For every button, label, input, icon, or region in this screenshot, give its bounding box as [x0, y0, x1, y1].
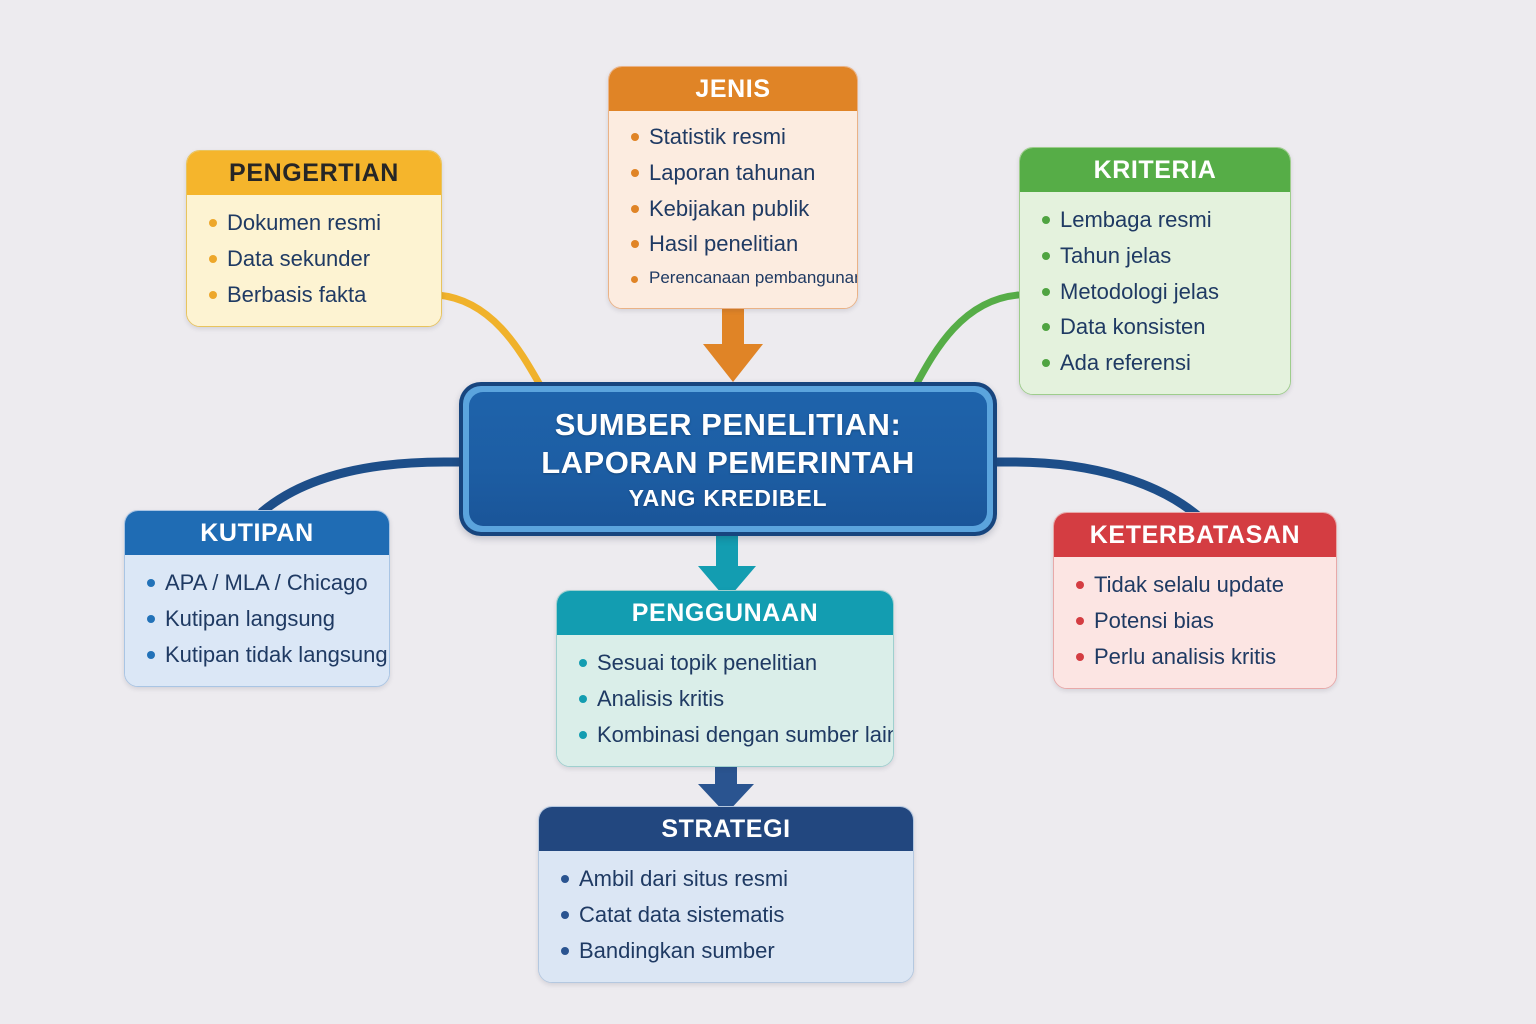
list-item: Tidak selalu update [1072, 567, 1322, 603]
list-item: Kutipan langsung [143, 601, 375, 637]
center-ring: SUMBER PENELITIAN: LAPORAN PEMERINTAH YA… [463, 386, 993, 532]
node-strategi-list: Ambil dari situs resmi Catat data sistem… [557, 861, 899, 968]
node-strategi[interactable]: STRATEGI Ambil dari situs resmi Catat da… [538, 806, 914, 983]
node-strategi-body: Ambil dari situs resmi Catat data sistem… [539, 851, 913, 982]
list-item: Dokumen resmi [205, 205, 427, 241]
node-keterbatasan-body: Tidak selalu update Potensi bias Perlu a… [1054, 557, 1336, 688]
connector-pengertian-to-center [438, 295, 540, 385]
list-item: Tahun jelas [1038, 238, 1276, 274]
list-item: Perlu analisis kritis [1072, 639, 1322, 675]
node-penggunaan-body: Sesuai topik penelitian Analisis kritis … [557, 635, 893, 766]
node-keterbatasan-title: KETERBATASAN [1054, 513, 1336, 557]
connector-kriteria-to-center [916, 295, 1018, 385]
node-kriteria[interactable]: KRITERIA Lembaga resmi Tahun jelas Metod… [1019, 147, 1291, 395]
node-penggunaan-list: Sesuai topik penelitian Analisis kritis … [575, 645, 879, 752]
node-kutipan-body: APA / MLA / Chicago Kutipan langsung Kut… [125, 555, 389, 686]
node-penggunaan-title: PENGGUNAAN [557, 591, 893, 635]
node-kriteria-body: Lembaga resmi Tahun jelas Metodologi jel… [1020, 192, 1290, 394]
list-item: Data sekunder [205, 241, 427, 277]
node-pengertian-body: Dokumen resmi Data sekunder Berbasis fak… [187, 195, 441, 326]
list-item: Metodologi jelas [1038, 274, 1276, 310]
node-pengertian-title: PENGERTIAN [187, 151, 441, 195]
list-item: APA / MLA / Chicago [143, 565, 375, 601]
list-item: Sesuai topik penelitian [575, 645, 879, 681]
list-item: Data konsisten [1038, 309, 1276, 345]
list-item: Kombinasi dengan sumber lain [575, 717, 879, 753]
list-item: Statistik resmi [627, 119, 843, 155]
node-keterbatasan-list: Tidak selalu update Potensi bias Perlu a… [1072, 567, 1322, 674]
connector-center-to-kutipan [262, 462, 459, 512]
node-jenis-body: Statistik resmi Laporan tahunan Kebijaka… [609, 111, 857, 308]
list-item: Berbasis fakta [205, 277, 427, 313]
center-title-line1: SUMBER PENELITIAN: [555, 406, 902, 444]
node-kriteria-list: Lembaga resmi Tahun jelas Metodologi jel… [1038, 202, 1276, 380]
node-pengertian-list: Dokumen resmi Data sekunder Berbasis fak… [205, 205, 427, 312]
list-item: Kebijakan publik [627, 191, 843, 227]
list-item: Hasil penelitian [627, 226, 843, 262]
connector-jenis-to-center [703, 306, 763, 382]
node-kutipan-title: KUTIPAN [125, 511, 389, 555]
node-strategi-title: STRATEGI [539, 807, 913, 851]
list-item: Ada referensi [1038, 345, 1276, 381]
list-item: Kutipan tidak langsung [143, 637, 375, 673]
connector-center-to-keterbatasan [997, 462, 1198, 516]
node-jenis-title: JENIS [609, 67, 857, 111]
node-penggunaan[interactable]: PENGGUNAAN Sesuai topik penelitian Anali… [556, 590, 894, 767]
list-item: Analisis kritis [575, 681, 879, 717]
node-kutipan[interactable]: KUTIPAN APA / MLA / Chicago Kutipan lang… [124, 510, 390, 687]
node-keterbatasan[interactable]: KETERBATASAN Tidak selalu update Potensi… [1053, 512, 1337, 689]
list-item: Laporan tahunan [627, 155, 843, 191]
mindmap-canvas: PENGERTIAN Dokumen resmi Data sekunder B… [0, 0, 1536, 1024]
center-inner: SUMBER PENELITIAN: LAPORAN PEMERINTAH YA… [469, 392, 987, 526]
center-title-line3: YANG KREDIBEL [629, 485, 828, 512]
list-item: Lembaga resmi [1038, 202, 1276, 238]
list-item: Catat data sistematis [557, 897, 899, 933]
node-jenis-list: Statistik resmi Laporan tahunan Kebijaka… [627, 119, 843, 294]
list-item: Ambil dari situs resmi [557, 861, 899, 897]
node-jenis[interactable]: JENIS Statistik resmi Laporan tahunan Ke… [608, 66, 858, 309]
node-pengertian[interactable]: PENGERTIAN Dokumen resmi Data sekunder B… [186, 150, 442, 327]
list-item: Bandingkan sumber [557, 933, 899, 969]
center-title-line2: LAPORAN PEMERINTAH [541, 444, 915, 482]
node-kriteria-title: KRITERIA [1020, 148, 1290, 192]
node-kutipan-list: APA / MLA / Chicago Kutipan langsung Kut… [143, 565, 375, 672]
list-item: Perencanaan pembangunan [627, 262, 843, 294]
list-item: Potensi bias [1072, 603, 1322, 639]
node-center-topic[interactable]: SUMBER PENELITIAN: LAPORAN PEMERINTAH YA… [459, 382, 997, 536]
